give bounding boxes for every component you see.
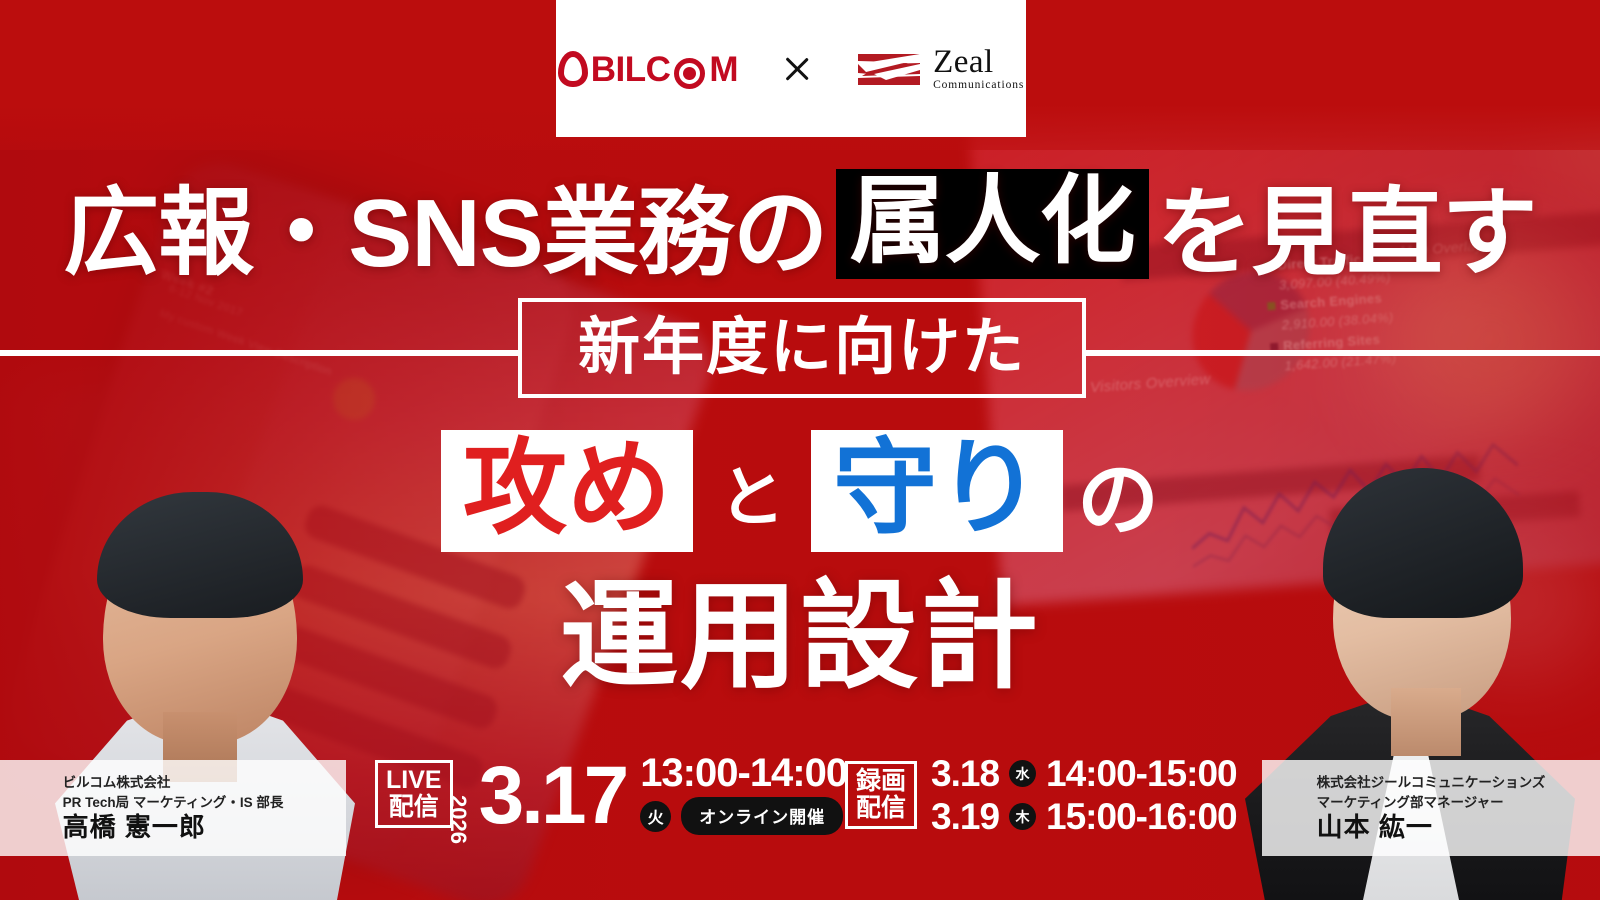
live-badge: LIVE 配信 <box>375 760 453 828</box>
bilcom-logo: BILC M <box>558 51 738 87</box>
speaker-right-org: 株式会社ジールコミュニケーションズ <box>1317 773 1546 793</box>
headline-line-3: 攻め と 守り の <box>0 428 1600 554</box>
headline-line-4: 運用設計 <box>0 572 1600 702</box>
logo-bar: BILC M Zeal Communications <box>556 0 1026 137</box>
recorded-schedule: 録画 配信 3.18 水 14:00-15:00 3.19 木 15:00-16… <box>845 755 1237 835</box>
headline-highlight-zokujinka: 属人化 <box>836 169 1149 279</box>
zeal-logo: Zeal Communications <box>856 46 1024 92</box>
recorded-weekday-0: 水 <box>1009 760 1036 787</box>
live-schedule: LIVE 配信 2026 3.17 13:00-14:00 火 オンライン開催 <box>375 753 847 835</box>
live-badge-line1: LIVE <box>386 767 442 794</box>
zeal-tagline: Communications <box>933 80 1024 92</box>
speaker-left-lines: ビルコム株式会社 PR Tech局 マーケティング・IS 部長 高橋 憲一郎 <box>63 773 284 843</box>
speaker-left-title: PR Tech局 マーケティング・IS 部長 <box>63 793 284 813</box>
speaker-right-lines: 株式会社ジールコミュニケーションズ マーケティング部マネージャー 山本 紘一 <box>1317 773 1546 843</box>
zeal-name: Zeal <box>933 46 1024 79</box>
bilcom-target-icon <box>674 58 705 89</box>
speaker-card-left: ビルコム株式会社 PR Tech局 マーケティング・IS 部長 高橋 憲一郎 <box>0 760 346 856</box>
headline-rule-right <box>1086 350 1600 356</box>
live-weekday-badge: 火 <box>640 801 671 832</box>
headline-chip-offense: 攻め <box>441 430 693 553</box>
bottom-bar: ビルコム株式会社 PR Tech局 マーケティング・IS 部長 高橋 憲一郎 L… <box>0 745 1600 900</box>
bilcom-wordmark-suffix: M <box>709 52 738 87</box>
recorded-time-0: 14:00-15:00 <box>1046 755 1237 792</box>
headline-line3-tail: の <box>1077 460 1159 542</box>
live-format-pill: オンライン開催 <box>681 797 843 835</box>
recorded-date-1: 3.19 <box>931 798 999 835</box>
recorded-badge-line2: 配信 <box>856 795 906 822</box>
speaker-left-org: ビルコム株式会社 <box>63 773 171 793</box>
speaker-left-name: 高橋 憲一郎 <box>63 813 206 843</box>
webinar-banner: Direct Traffic 3,097.00 (40.49%) Search … <box>0 0 1600 900</box>
live-date: 3.17 <box>479 759 627 833</box>
zeal-wordmark: Zeal Communications <box>933 46 1024 92</box>
recorded-badge: 録画 配信 <box>845 761 917 829</box>
headline-chip-defense: 守り <box>811 430 1063 553</box>
speaker-right-title: マーケティング部マネージャー <box>1317 793 1504 813</box>
zeal-z-icon <box>856 50 922 88</box>
collab-x-icon <box>782 54 812 84</box>
recorded-session-row: 3.19 木 15:00-16:00 <box>931 798 1237 835</box>
speaker-right-name: 山本 紘一 <box>1317 813 1433 843</box>
speaker-card-right: 株式会社ジールコミュニケーションズ マーケティング部マネージャー 山本 紘一 <box>1262 760 1600 856</box>
recorded-badge-line1: 録画 <box>856 768 906 795</box>
live-year: 2026 <box>445 795 471 817</box>
live-badges: 火 オンライン開催 <box>640 797 847 835</box>
recorded-time-1: 15:00-16:00 <box>1046 798 1237 835</box>
live-time: 13:00-14:00 <box>640 753 847 793</box>
bilcom-wordmark-prefix: BILC <box>591 52 671 87</box>
headline-line1-part-b: を見直す <box>1157 155 1537 294</box>
live-badge-line2: 配信 <box>386 794 442 821</box>
headline-conjunction: と <box>719 464 785 530</box>
headline-line-2-box: 新年度に向けた <box>518 298 1086 398</box>
recorded-weekday-1: 木 <box>1009 803 1036 830</box>
bilcom-drop-icon <box>558 51 588 87</box>
recorded-session-row: 3.18 水 14:00-15:00 <box>931 755 1237 792</box>
recorded-date-0: 3.18 <box>931 755 999 792</box>
headline-line-1: 広報・SNS業務の属人化を見直す <box>0 168 1600 280</box>
recorded-session-list: 3.18 水 14:00-15:00 3.19 木 15:00-16:00 <box>931 755 1237 835</box>
live-time-block: 13:00-14:00 火 オンライン開催 <box>640 753 847 835</box>
headline-rule-left <box>0 350 518 356</box>
headline-line-2: 新年度に向けた <box>578 317 1026 379</box>
headline-line1-part-a: 広報・SNS業務の <box>63 155 827 294</box>
